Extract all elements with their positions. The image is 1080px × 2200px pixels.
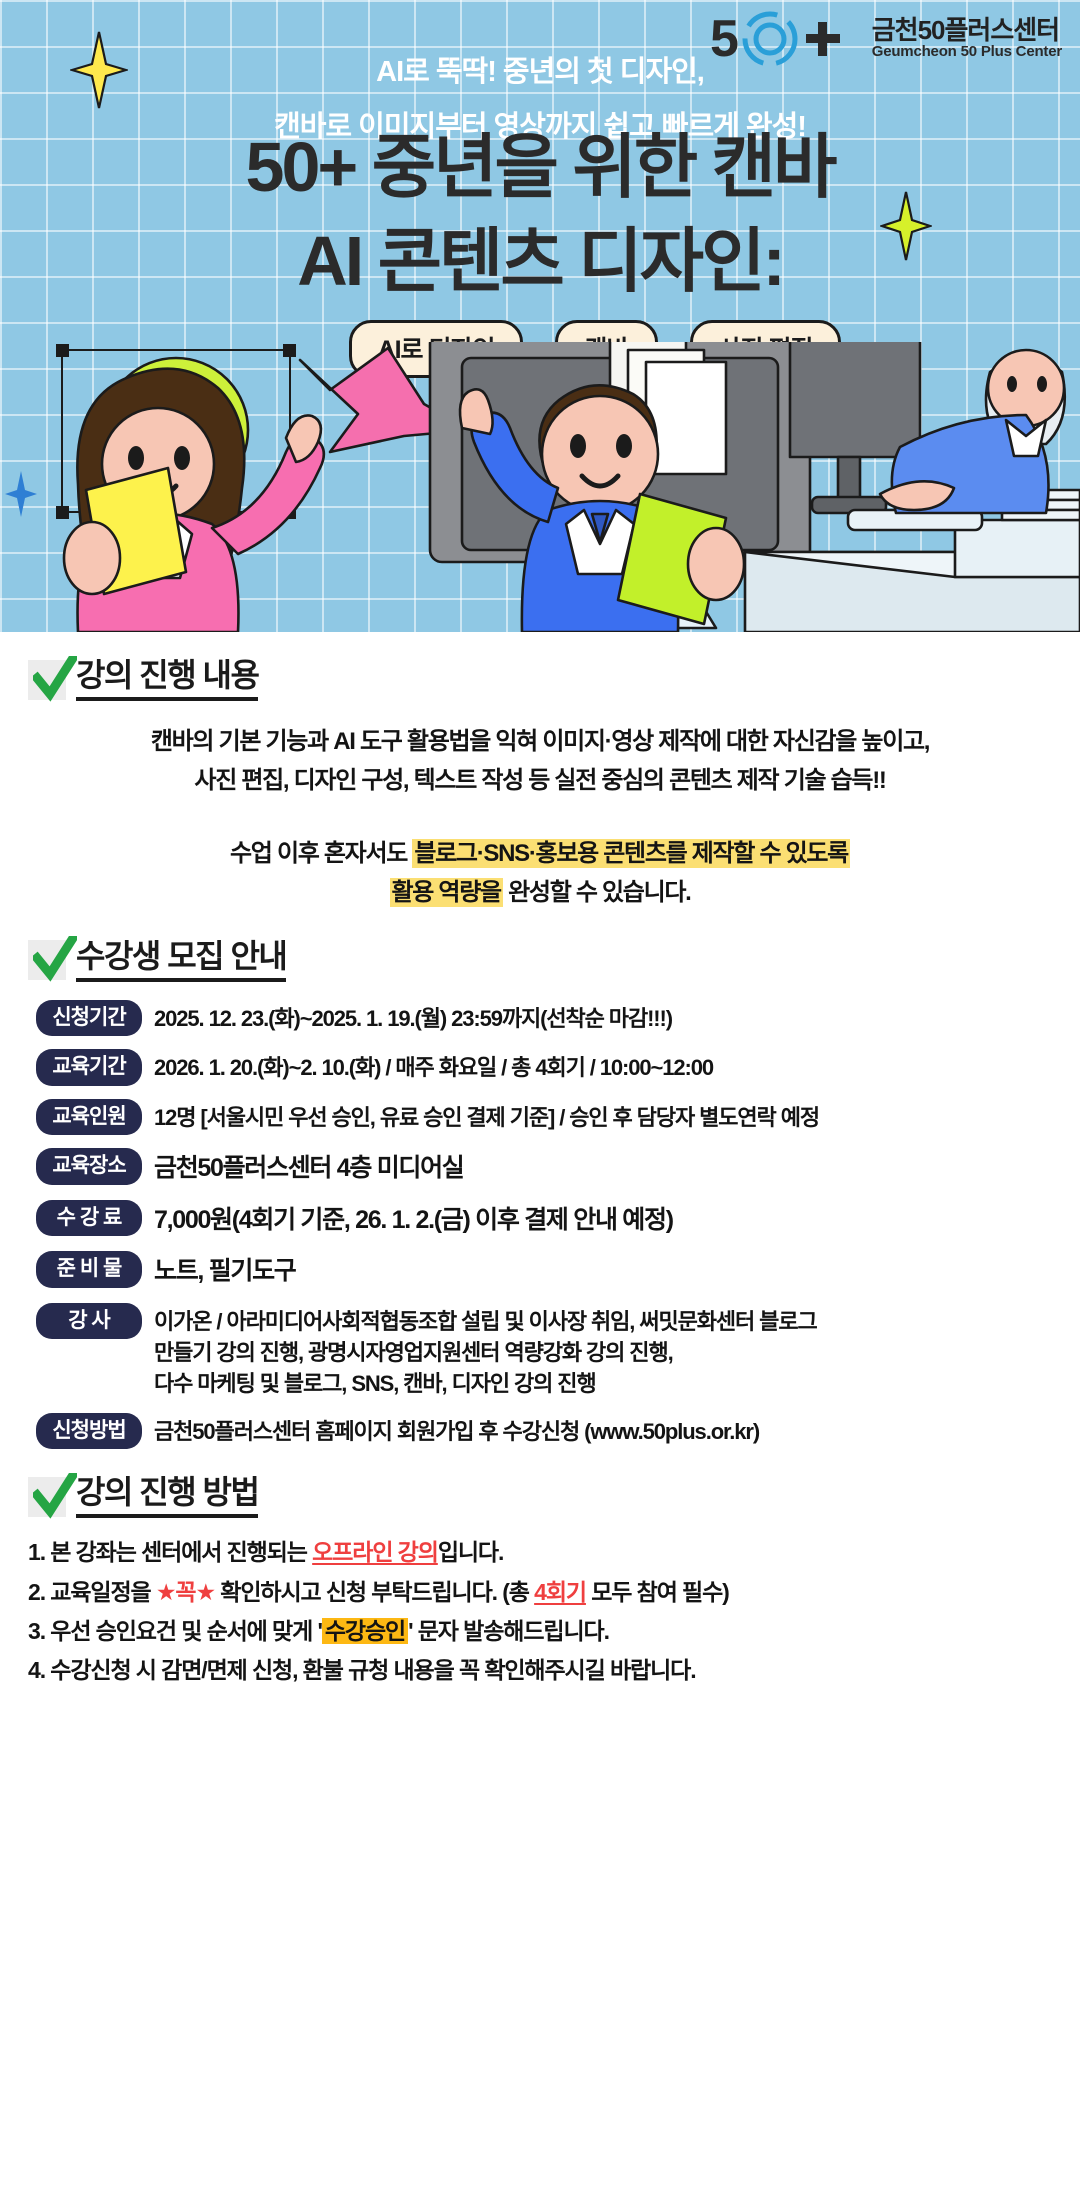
- info-value: 2026. 1. 20.(화)~2. 10.(화) / 매주 화요일 / 총 4…: [154, 1047, 713, 1083]
- info-value: 이가온 / 아라미디어사회적협동조합 설립 및 이사장 취임, 써밋문화센터 블…: [154, 1301, 817, 1400]
- info-value: 7,000원(4회기 기준, 26. 1. 2.(금) 이후 결제 안내 예정): [154, 1198, 673, 1239]
- logo-name-kr: 금천50플러스센터: [872, 15, 1059, 45]
- section-header-recruit: 수강생 모집 안내: [28, 939, 1052, 982]
- item-number: 3.: [28, 1618, 45, 1644]
- item-number: 2.: [28, 1579, 45, 1605]
- info-tag: 교육인원: [36, 1099, 142, 1136]
- info-value: 2025. 12. 23.(화)~2025. 1. 19.(월) 23:59까지…: [154, 998, 672, 1034]
- item-pre: 수강신청 시 감면/면제 신청, 환불 규청 내용을 꼭 확인해주시길 바랍니다…: [45, 1657, 696, 1683]
- highlight-prefix: 수업 이후 혼자서도: [230, 840, 412, 867]
- info-tag: 준 비 물: [36, 1251, 142, 1288]
- info-row-location: 교육장소 금천50플러스센터 4층 미디어실: [28, 1146, 1052, 1187]
- info-tag: 강 사: [36, 1303, 142, 1340]
- hero-illustration: [0, 342, 1080, 632]
- method-list-item-2: 2. 교육일정을 ★꼭★ 확인하시고 신청 부탁드립니다. (총 4회기 모두 …: [28, 1574, 1052, 1611]
- check-icon: [28, 1477, 66, 1517]
- info-row-fee: 수 강 료 7,000원(4회기 기준, 26. 1. 2.(금) 이후 결제 …: [28, 1198, 1052, 1239]
- method-list: 1. 본 강좌는 센터에서 진행되는 오프라인 강의입니다. 2. 교육일정을 …: [28, 1534, 1052, 1689]
- info-tag: 신청기간: [36, 1000, 142, 1037]
- info-tag: 신청방법: [36, 1413, 142, 1450]
- item-pre: 교육일정을: [45, 1579, 156, 1605]
- info-value: 금천50플러스센터 4층 미디어실: [154, 1146, 464, 1187]
- content-paragraph: 캔바의 기본 기능과 AI 도구 활용법을 익혀 이미지·영상 제작에 대한 자…: [28, 723, 1052, 801]
- hero-banner: 5 금천50플러스센터 Geumcheon 50 Plus Center: [0, 0, 1080, 632]
- recruit-info-list: 신청기간 2025. 12. 23.(화)~2025. 1. 19.(월) 23…: [28, 998, 1052, 1449]
- method-list-item-3: 3. 우선 승인요건 및 순서에 맞게 '수강승인' 문자 발송해드립니다.: [28, 1613, 1052, 1650]
- item-emphasis: 오프라인 강의: [312, 1539, 438, 1565]
- hero-title-line2: AI 콘텐츠 디자인:: [0, 224, 1080, 300]
- section-title-content: 강의 진행 내용: [76, 658, 258, 701]
- info-row-materials: 준 비 물 노트, 필기도구: [28, 1249, 1052, 1290]
- item-number: 4.: [28, 1657, 45, 1683]
- info-row-instructor: 강 사 이가온 / 아라미디어사회적협동조합 설립 및 이사장 취임, 써밋문화…: [28, 1301, 1052, 1400]
- item-star: ★꼭★: [156, 1579, 215, 1605]
- content-paragraph-line1: 캔바의 기본 기능과 AI 도구 활용법을 익혀 이미지·영상 제작에 대한 자…: [151, 728, 929, 755]
- item-emphasis: 4회기: [534, 1579, 586, 1605]
- info-tag: 교육기간: [36, 1049, 142, 1086]
- item-pre: 본 강좌는 센터에서 진행되는: [45, 1539, 312, 1565]
- item-emphasis: 수강승인: [322, 1618, 408, 1644]
- section-header-content: 강의 진행 내용: [28, 658, 1052, 701]
- item-post: 모두 참여 필수): [586, 1579, 729, 1605]
- course-poster: 5 금천50플러스센터 Geumcheon 50 Plus Center: [0, 0, 1080, 2200]
- hero-subtitle-line1: AI로 뚝딱! 중년의 첫 디자인,: [376, 56, 704, 88]
- info-row-application-period: 신청기간 2025. 12. 23.(화)~2025. 1. 19.(월) 23…: [28, 998, 1052, 1037]
- item-pre: 우선 승인요건 및 순서에 맞게 ': [45, 1618, 322, 1644]
- instructor-line-3: 다수 마케팅 및 블로그, SNS, 캔바, 디자인 강의 진행: [154, 1368, 817, 1399]
- info-tag: 교육장소: [36, 1148, 142, 1185]
- item-number: 1.: [28, 1539, 45, 1565]
- hero-title: 50+ 중년을 위한 캔바 AI 콘텐츠 디자인:: [0, 130, 1080, 299]
- poster-body: 강의 진행 내용 캔바의 기본 기능과 AI 도구 활용법을 익혀 이미지·영상…: [0, 658, 1080, 1689]
- method-list-item-1: 1. 본 강좌는 센터에서 진행되는 오프라인 강의입니다.: [28, 1534, 1052, 1571]
- highlight-text-line1: 블로그·SNS·홍보용 콘텐츠를 제작할 수 있도록: [412, 839, 850, 868]
- info-tag: 수 강 료: [36, 1200, 142, 1237]
- highlight-text-line2: 활용 역량을: [390, 878, 503, 907]
- item-post: ' 문자 발송해드립니다.: [408, 1618, 609, 1644]
- content-paragraph-line2: 사진 편집, 디자인 구성, 텍스트 작성 등 실전 중심의 콘텐츠 제작 기술…: [194, 767, 885, 794]
- method-list-item-4: 4. 수강신청 시 감면/면제 신청, 환불 규청 내용을 꼭 확인해주시길 바…: [28, 1652, 1052, 1689]
- info-row-course-period: 교육기간 2026. 1. 20.(화)~2. 10.(화) / 매주 화요일 …: [28, 1047, 1052, 1086]
- content-highlight-paragraph: 수업 이후 혼자서도 블로그·SNS·홍보용 콘텐츠를 제작할 수 있도록 활용…: [28, 835, 1052, 913]
- section-header-method: 강의 진행 방법: [28, 1475, 1052, 1518]
- instructor-line-1: 이가온 / 아라미디어사회적협동조합 설립 및 이사장 취임, 써밋문화센터 블…: [154, 1306, 817, 1337]
- info-row-capacity: 교육인원 12명 [서울시민 우선 승인, 유료 승인 결제 기준] / 승인 …: [28, 1097, 1052, 1136]
- check-icon: [28, 940, 66, 980]
- check-icon: [28, 660, 66, 700]
- instructor-line-2: 만들기 강의 진행, 광명시자영업지원센터 역량강화 강의 진행,: [154, 1337, 817, 1368]
- info-value: 금천50플러스센터 홈페이지 회원가입 후 수강신청 (www.50plus.o…: [154, 1411, 759, 1447]
- logo-text-block: 금천50플러스센터 Geumcheon 50 Plus Center: [872, 17, 1062, 61]
- highlight-suffix: 완성할 수 있습니다.: [503, 879, 691, 906]
- section-title-recruit: 수강생 모집 안내: [76, 939, 286, 982]
- info-row-how-to-apply: 신청방법 금천50플러스센터 홈페이지 회원가입 후 수강신청 (www.50p…: [28, 1411, 1052, 1450]
- item-post: 입니다.: [438, 1539, 503, 1565]
- info-value: 12명 [서울시민 우선 승인, 유료 승인 결제 기준] / 승인 후 담당자…: [154, 1097, 819, 1133]
- hero-title-line1: 50+ 중년을 위한 캔바: [246, 128, 835, 206]
- item-mid: 확인하시고 신청 부탁드립니다. (총: [215, 1579, 534, 1605]
- section-title-method: 강의 진행 방법: [76, 1475, 258, 1518]
- info-value: 노트, 필기도구: [154, 1249, 296, 1290]
